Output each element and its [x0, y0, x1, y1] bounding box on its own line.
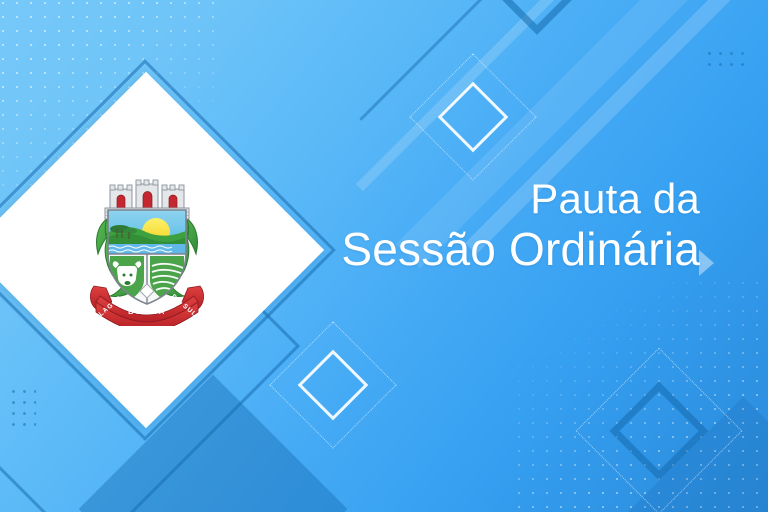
diamond-dotted-top-center-icon: [409, 53, 536, 180]
dot-pattern-bottom-right-icon: [512, 276, 768, 512]
session-agenda-banner: BONITA LAGOA DO SUL Pauta da Sessão Ordi…: [0, 0, 768, 512]
corner-wedge-bottom-right-icon: [623, 397, 768, 512]
coat-of-arms: BONITA LAGOA DO SUL: [72, 176, 222, 326]
diamond-outline-top-center-icon: [438, 82, 509, 153]
dot-cluster-bottom-left-icon: [8, 386, 36, 434]
river-icon: [106, 244, 188, 254]
banner-headline: Pauta da Sessão Ordinária: [341, 178, 700, 272]
dot-cluster-top-right-icon: [704, 48, 750, 74]
diagonal-stripe-icon: [359, 0, 630, 121]
diamond-outline-bottom-right-icon: [610, 382, 709, 481]
diamond-dotted-bottom-right-icon: [576, 348, 743, 512]
chevron-right-icon: [699, 250, 714, 276]
headline-line-1: Pauta da: [341, 178, 700, 220]
diagonal-stripe-icon: [356, 0, 667, 191]
ribbon-center-text: BONITA: [128, 307, 166, 316]
diamond-outline-top-right-icon: [493, 0, 581, 35]
diamond-dotted-bottom-center-icon: [269, 321, 396, 448]
headline-line-2: Sessão Ordinária: [341, 226, 700, 272]
coat-of-arms-icon: BONITA LAGOA DO SUL: [72, 176, 222, 326]
diamond-outline-bottom-center-icon: [298, 350, 369, 421]
